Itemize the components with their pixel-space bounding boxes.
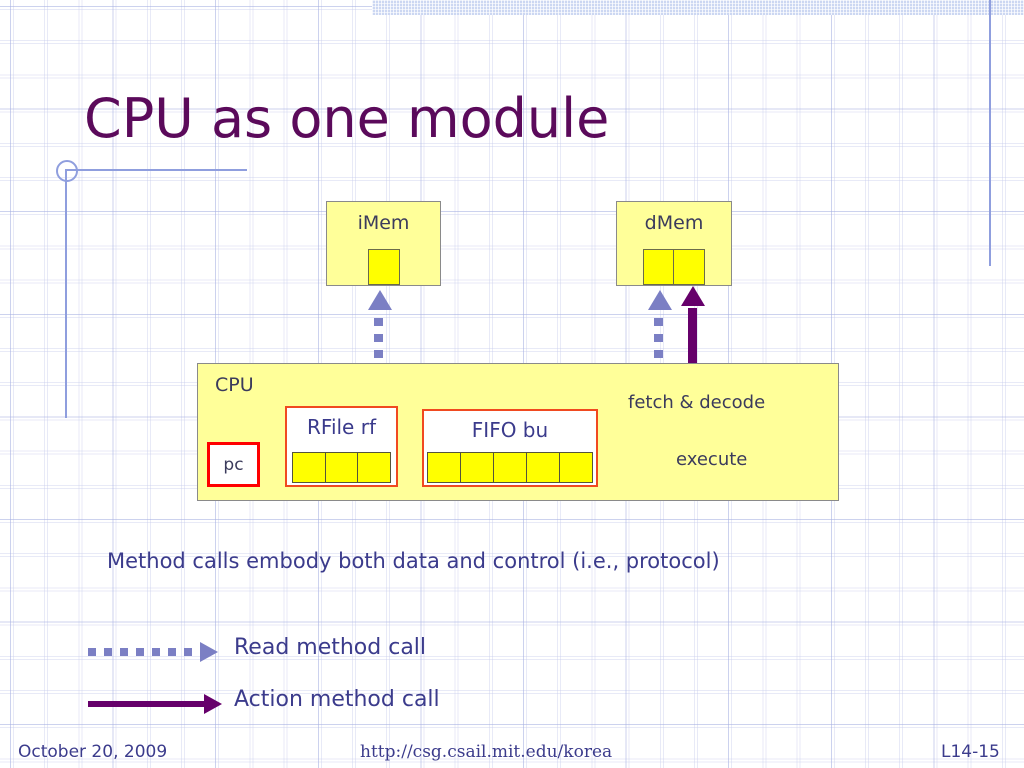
- fifo-cell: [493, 452, 527, 483]
- fifo-cell: [559, 452, 593, 483]
- legend-action-arrow-icon: [204, 694, 222, 714]
- slide: CPU as one module iMem dMem CPU fetch & …: [0, 0, 1024, 768]
- fetch-decode-label: fetch & decode: [628, 392, 765, 413]
- rfile-cell: [325, 452, 359, 483]
- decorative-top-band: [372, 0, 1024, 15]
- imem-port: [368, 249, 400, 285]
- fifo-module-box: FIFO bu: [422, 409, 598, 487]
- fifo-cells: [424, 452, 596, 483]
- footer-url[interactable]: http://csg.csail.mit.edu/korea: [360, 742, 612, 762]
- legend-action-solid-line: [88, 701, 206, 707]
- pc-register-box: pc: [207, 442, 260, 487]
- imem-ports: [327, 249, 440, 285]
- arrow-cpu-to-dmem-read-head: [648, 290, 672, 310]
- fifo-cell: [427, 452, 461, 483]
- decorative-left-horizontal-rule: [65, 169, 247, 171]
- arrow-cpu-to-dmem-action-shaft: [688, 308, 697, 364]
- decorative-left-vertical-rule: [65, 170, 67, 418]
- rfile-label: RFile rf: [287, 415, 396, 439]
- legend-read-label: Read method call: [234, 635, 426, 660]
- cpu-label: CPU: [215, 374, 254, 396]
- dmem-ports: [617, 249, 731, 285]
- method-calls-note: Method calls embody both data and contro…: [107, 549, 720, 573]
- dmem-module-box: dMem: [616, 201, 732, 286]
- execute-label: execute: [676, 449, 747, 470]
- imem-label: iMem: [327, 212, 440, 234]
- decorative-right-rule: [989, 0, 991, 266]
- dmem-label: dMem: [617, 212, 731, 234]
- rfile-cell: [357, 452, 391, 483]
- footer-page-number: L14-15: [941, 742, 1000, 762]
- page-title: CPU as one module: [84, 88, 609, 150]
- dmem-port-read: [643, 249, 675, 285]
- pc-label: pc: [210, 455, 257, 475]
- footer-date: October 20, 2009: [18, 742, 167, 762]
- arrow-cpu-to-imem-read-shaft: [374, 318, 383, 364]
- fifo-cell: [460, 452, 494, 483]
- rfile-cell: [292, 452, 326, 483]
- imem-module-box: iMem: [326, 201, 441, 286]
- arrow-cpu-to-dmem-action-head: [681, 286, 705, 306]
- rfile-module-box: RFile rf: [285, 406, 398, 487]
- cpu-module-box: CPU fetch & decode execute pc RFile rf F…: [197, 363, 839, 501]
- decorative-circle-icon: [56, 160, 78, 182]
- dmem-port-write: [673, 249, 705, 285]
- legend-read-dashed-line: [88, 648, 201, 656]
- fifo-cell: [526, 452, 560, 483]
- arrow-cpu-to-imem-read-head: [368, 290, 392, 310]
- legend-read-arrow-icon: [200, 642, 218, 662]
- legend-action-label: Action method call: [234, 687, 440, 712]
- fifo-label: FIFO bu: [424, 418, 596, 442]
- arrow-cpu-to-dmem-read-shaft: [654, 318, 663, 364]
- rfile-cells: [287, 452, 396, 483]
